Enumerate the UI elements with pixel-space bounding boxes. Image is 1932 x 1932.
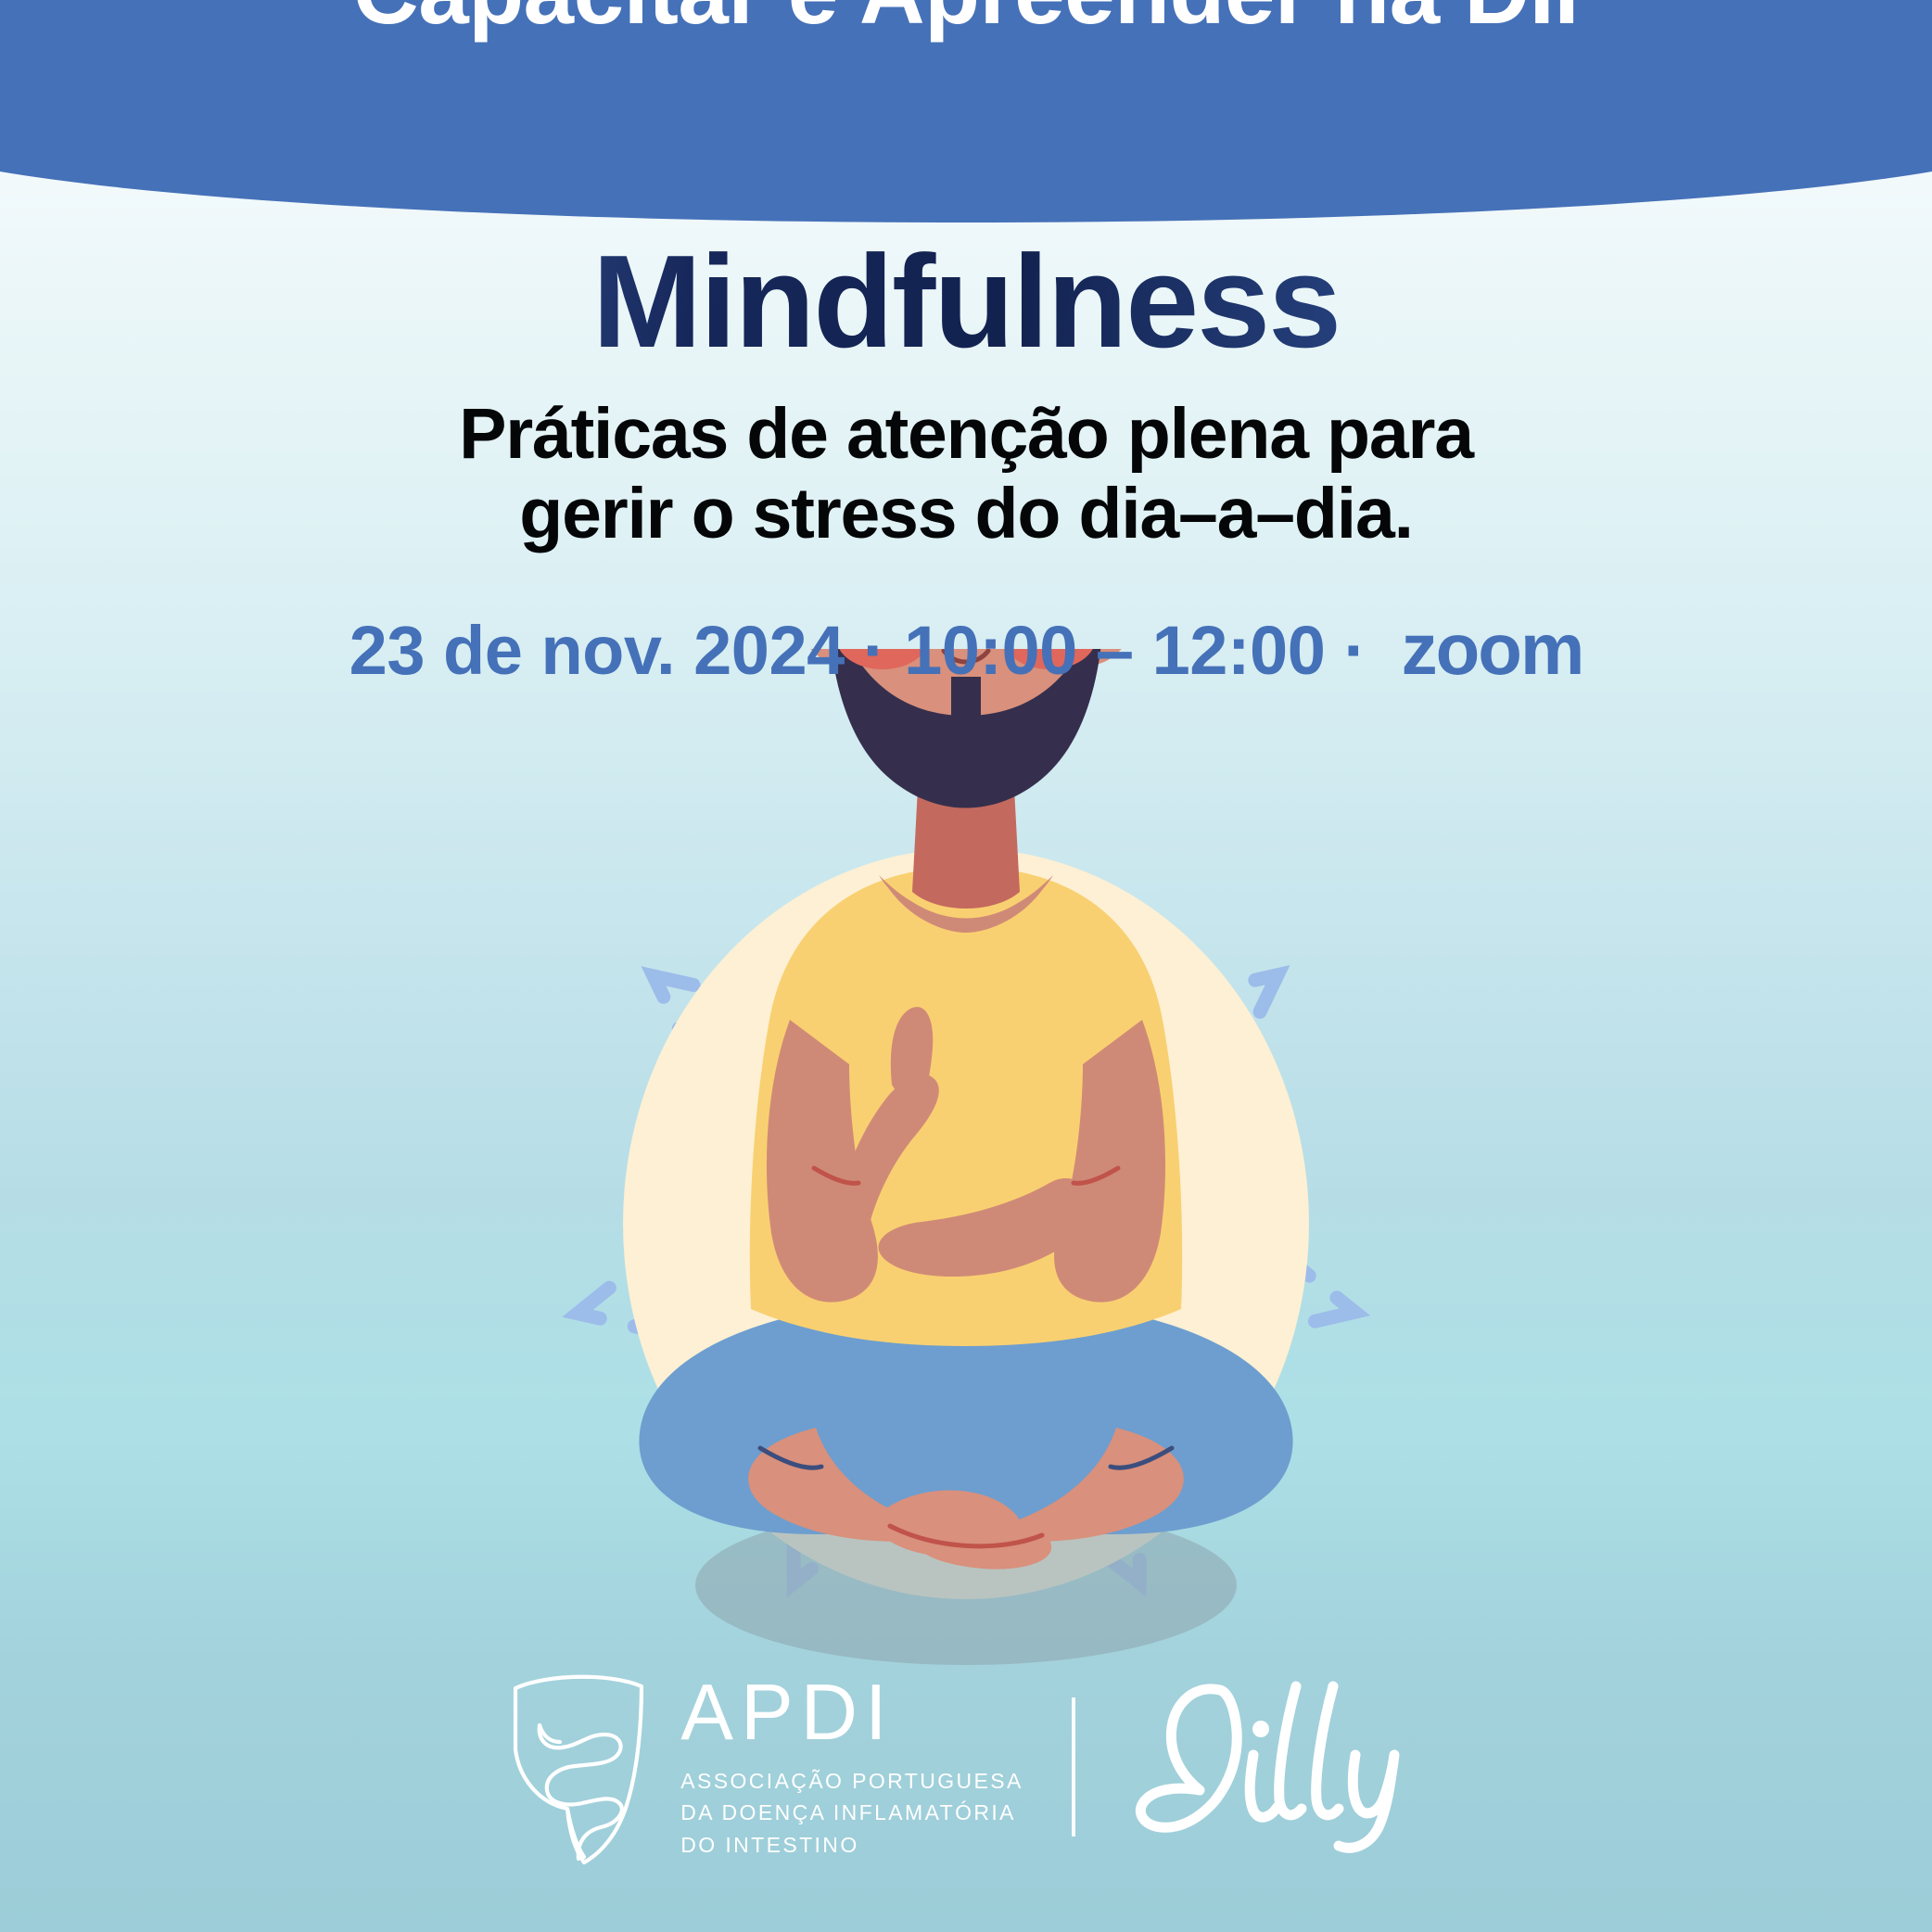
- illustration-stage: [0, 649, 1932, 1687]
- lilly-logo: [1124, 1670, 1430, 1864]
- page-title: Mindfulness: [0, 236, 1932, 368]
- apdi-wordmark: APDI: [680, 1673, 1023, 1752]
- banner-title: Capacitar e Apreender na DII: [0, 0, 1932, 44]
- dateline-separator-1: ·: [863, 612, 885, 689]
- intestine-icon: [502, 1668, 660, 1867]
- apdi-tagline-line-1: ASSOCIAÇÃO PORTUGUESA: [680, 1765, 1023, 1798]
- apdi-tagline: ASSOCIAÇÃO PORTUGUESA DA DOENÇA INFLAMAT…: [680, 1765, 1023, 1862]
- zoom-logo-text: zoom: [1402, 608, 1583, 690]
- apdi-text-block: APDI ASSOCIAÇÃO PORTUGUESA DA DOENÇA INF…: [680, 1673, 1023, 1862]
- apdi-tagline-line-3: DO INTESTINO: [680, 1829, 1023, 1862]
- logo-divider: [1072, 1697, 1075, 1837]
- header-banner: Capacitar e Apreender na DII: [0, 0, 1932, 222]
- apdi-logo: APDI ASSOCIAÇÃO PORTUGUESA DA DOENÇA INF…: [502, 1668, 1023, 1867]
- dateline-separator-2: ·: [1343, 612, 1366, 689]
- subtitle: Práticas de atenção plena para gerir o s…: [0, 394, 1932, 553]
- meditation-illustration: [0, 649, 1932, 1687]
- event-date: 23 de nov. 2024: [350, 612, 845, 689]
- footer-logos: APDI ASSOCIAÇÃO PORTUGUESA DA DOENÇA INF…: [0, 1646, 1932, 1888]
- event-time: 10:00 – 12:00: [904, 612, 1325, 689]
- apdi-tagline-line-2: DA DOENÇA INFLAMATÓRIA: [680, 1797, 1023, 1829]
- event-dateline: 23 de nov. 2024 · 10:00 – 12:00 · zoom: [0, 607, 1932, 692]
- subtitle-line-1: Práticas de atenção plena para: [459, 394, 1473, 474]
- subtitle-line-2: gerir o stress do dia–a–dia.: [0, 474, 1932, 553]
- poster-canvas: Capacitar e Apreender na DII Mindfulness…: [0, 0, 1932, 1932]
